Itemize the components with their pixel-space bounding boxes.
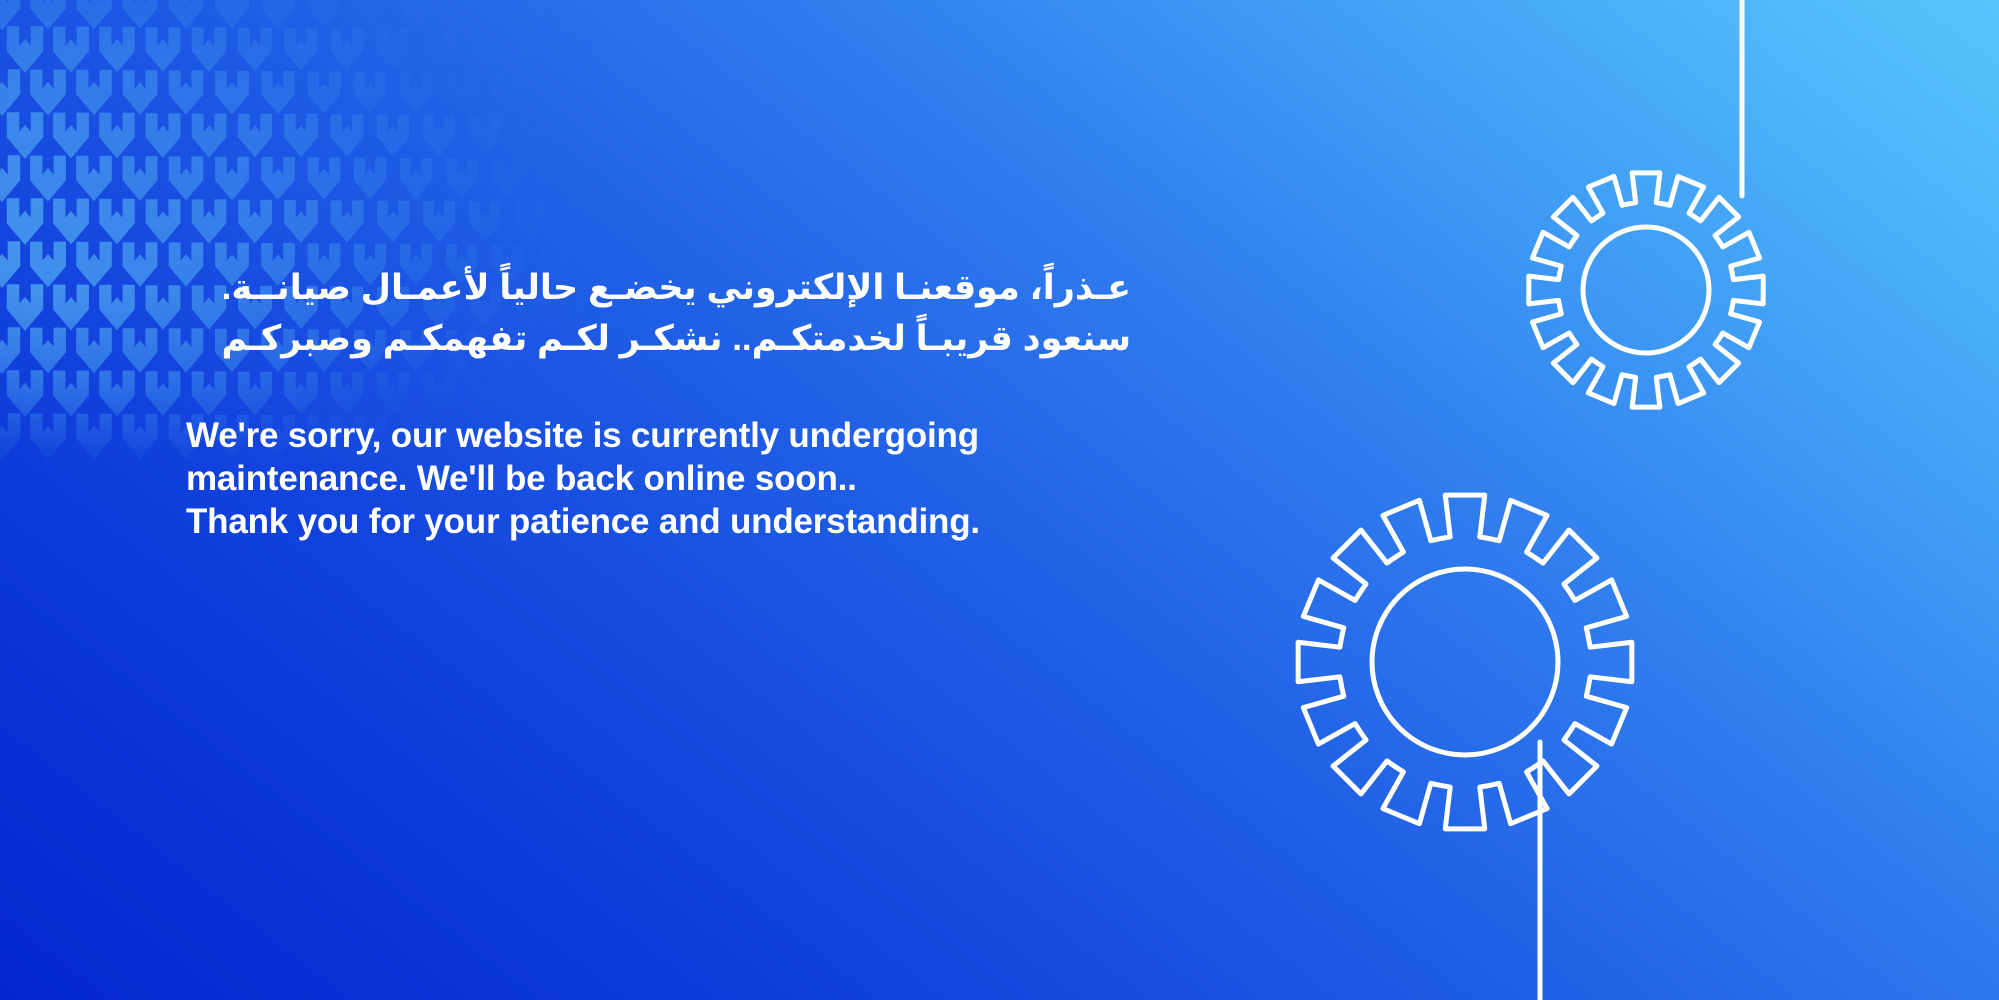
arabic-message-line-1: عـذراً، موقعنـا الإلكتروني يخضـع حالياً … — [186, 262, 1131, 313]
arabic-message-line-2: سنعود قريبـاً لخدمتكـم.. نشكـر لكـم تفهم… — [186, 313, 1131, 364]
large-gear-hub — [1372, 569, 1558, 755]
english-message-line-2: maintenance. We'll be back online soon.. — [186, 457, 1131, 500]
english-message-line-3: Thank you for your patience and understa… — [186, 500, 1131, 543]
english-message-line-1: We're sorry, our website is currently un… — [186, 414, 1131, 457]
small-gear-hub — [1583, 227, 1709, 353]
small-gear — [1529, 173, 1763, 407]
large-gear — [1298, 495, 1632, 829]
arabic-message: عـذراً، موقعنـا الإلكتروني يخضـع حالياً … — [186, 262, 1131, 364]
maintenance-message: عـذراً، موقعنـا الإلكتروني يخضـع حالياً … — [186, 262, 1131, 543]
english-message: We're sorry, our website is currently un… — [186, 414, 1131, 543]
maintenance-page: عـذراً، موقعنـا الإلكتروني يخضـع حالياً … — [0, 0, 1999, 1000]
